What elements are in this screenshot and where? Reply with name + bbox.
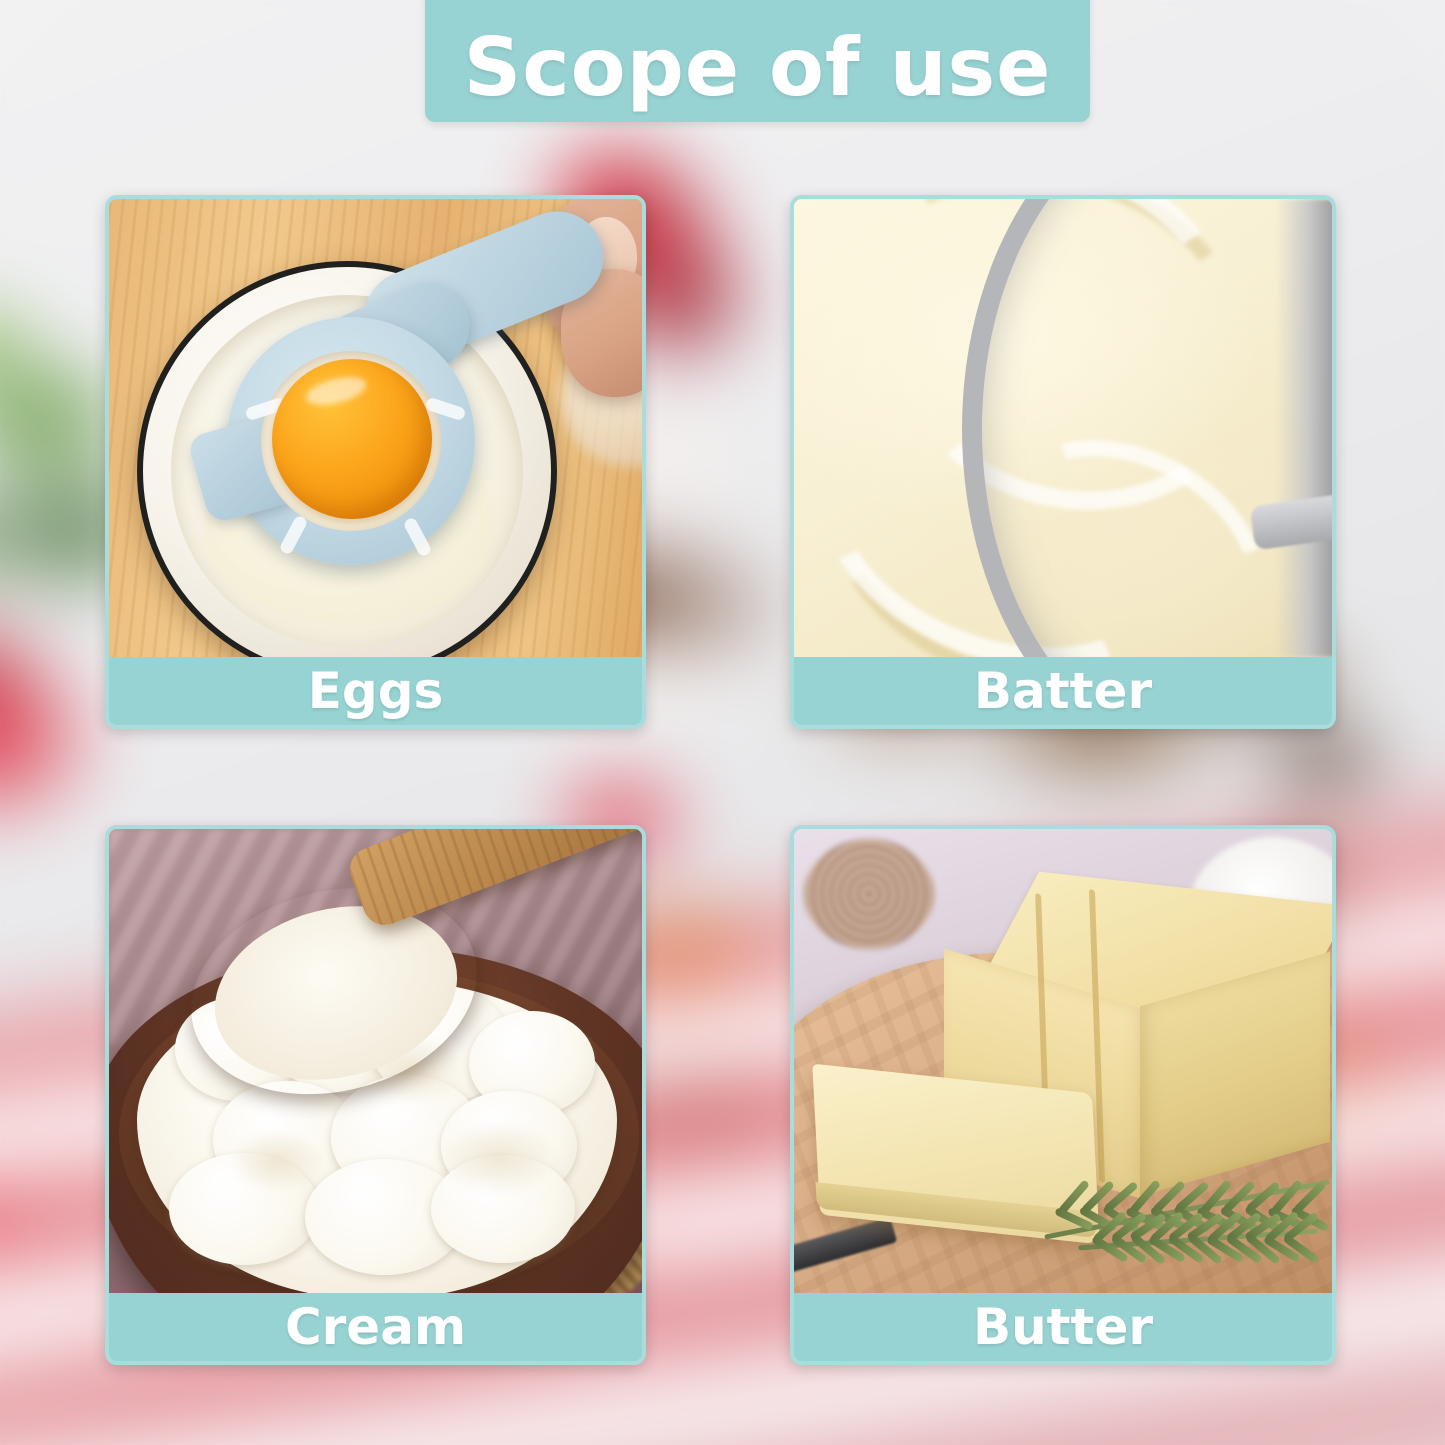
eggs-photo (109, 199, 642, 657)
card-caption-label: Butter (973, 1302, 1153, 1352)
rosemary-sprig (1042, 1121, 1332, 1271)
caption-bar-eggs: Eggs (109, 657, 642, 725)
card-caption-label: Batter (974, 666, 1152, 716)
batter-photo (794, 199, 1332, 657)
metal-bowl-edge (1276, 199, 1332, 657)
use-case-card-batter: Batter (790, 195, 1336, 729)
use-case-card-eggs: Eggs (105, 195, 646, 729)
cream-shadow (439, 1119, 559, 1197)
cream-photo (109, 829, 642, 1293)
twine-ball (804, 839, 934, 949)
caption-bar-cream: Cream (109, 1293, 642, 1361)
caption-bar-butter: Butter (794, 1293, 1332, 1361)
title-banner: Scope of use (425, 0, 1090, 122)
use-case-card-butter: Butter (790, 825, 1336, 1365)
use-case-card-cream: Cream (105, 825, 646, 1365)
butter-photo (794, 829, 1332, 1293)
caption-bar-batter: Batter (794, 657, 1332, 725)
card-caption-label: Cream (285, 1302, 466, 1352)
card-caption-label: Eggs (308, 666, 444, 716)
cream-shadow (229, 1129, 325, 1193)
page-title: Scope of use (464, 28, 1052, 108)
